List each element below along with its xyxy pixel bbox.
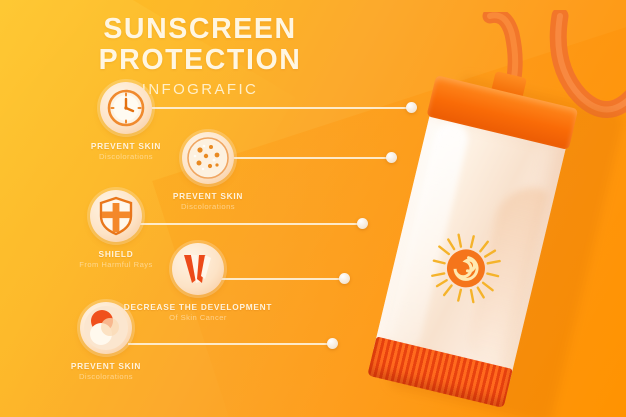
shield-icon — [90, 190, 142, 242]
overlapping-circles-icon — [80, 302, 132, 354]
clock-icon — [100, 82, 152, 134]
infographic-canvas: SUNSCREEN PROTECTION INFOGRAFIC — [0, 0, 626, 417]
info-item-prevent-skin-3[interactable]: PREVENT SKIN Discolorations — [31, 302, 181, 382]
ribbon-w-icon — [172, 243, 224, 295]
freckled-skin-icon — [182, 132, 234, 184]
sunscreen-tube-illustration — [330, 46, 626, 417]
info-item-title: PREVENT SKIN — [31, 361, 181, 371]
info-item-subtitle: Discolorations — [31, 372, 181, 381]
